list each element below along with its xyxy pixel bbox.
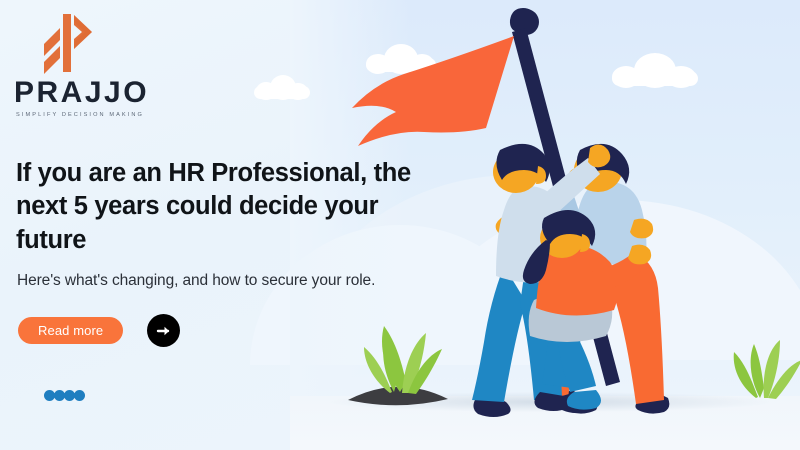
- brand-tagline: SIMPLIFY DECISION MAKING: [16, 112, 194, 118]
- arrow-right-icon: [156, 323, 172, 339]
- carousel-dots[interactable]: [44, 390, 84, 401]
- next-slide-button[interactable]: [147, 314, 180, 347]
- carousel-dot-4[interactable]: [74, 390, 85, 401]
- prajjo-p-mark-icon: [38, 12, 96, 74]
- brand-logo[interactable]: PRAJJO SIMPLIFY DECISION MAKING: [14, 12, 194, 118]
- plant-left-icon: [348, 326, 448, 405]
- read-more-button[interactable]: Read more: [18, 317, 123, 344]
- hero-subheadline: Here's what's changing, and how to secur…: [17, 269, 437, 292]
- plant-right-icon: [734, 340, 800, 399]
- brand-wordmark: PRAJJO: [14, 78, 194, 108]
- hero-headline: If you are an HR Professional, the next …: [16, 157, 416, 257]
- hero-banner: PRAJJO SIMPLIFY DECISION MAKING If you a…: [0, 0, 800, 450]
- cta-row: Read more: [18, 314, 180, 347]
